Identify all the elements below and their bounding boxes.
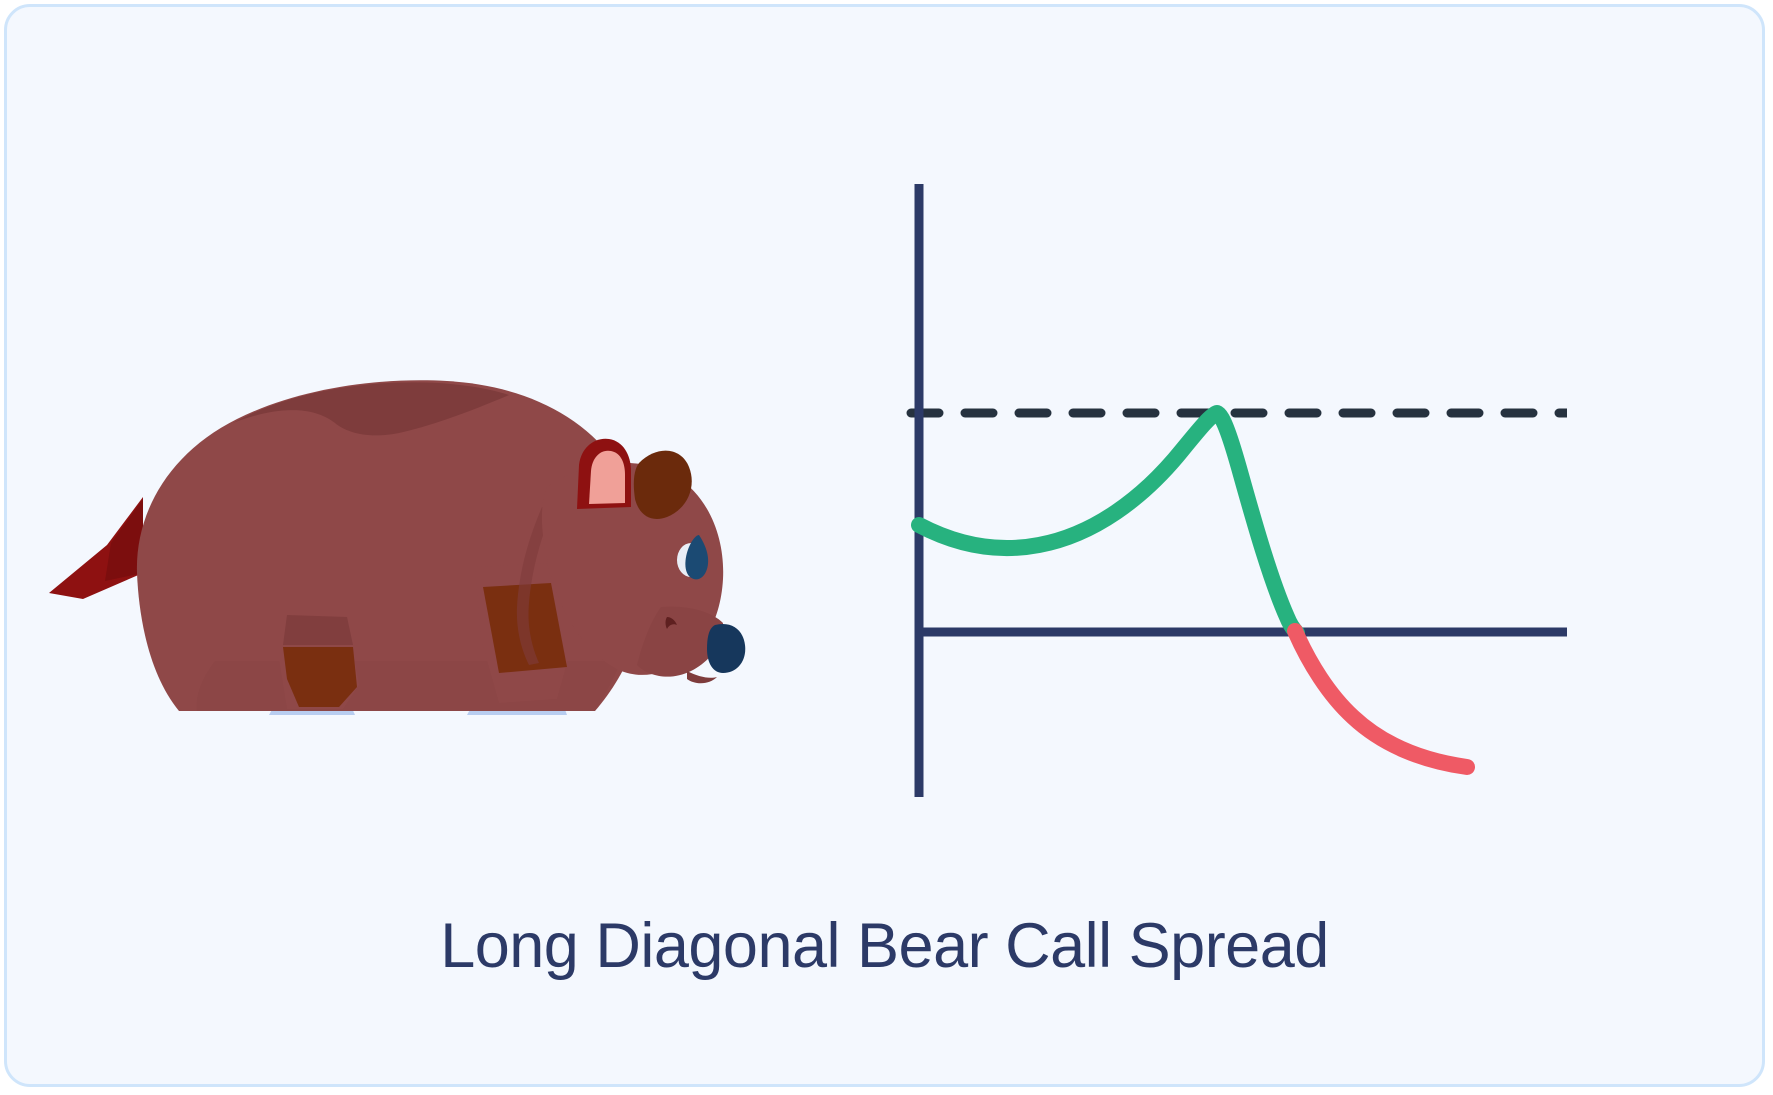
rear-near-leg-shading-icon bbox=[283, 615, 353, 645]
loss-curve bbox=[1295, 631, 1467, 767]
chin-shading-icon bbox=[687, 671, 717, 683]
page-title: Long Diagonal Bear Call Spread bbox=[7, 912, 1762, 981]
bear-illustration bbox=[47, 367, 767, 787]
strategy-card: Long Diagonal Bear Call Spread bbox=[4, 4, 1765, 1087]
nose-icon bbox=[707, 624, 745, 673]
profit-curve bbox=[919, 413, 1297, 633]
payoff-diagram-svg bbox=[867, 157, 1567, 817]
payoff-diagram bbox=[867, 157, 1567, 817]
bear-svg bbox=[47, 367, 767, 787]
